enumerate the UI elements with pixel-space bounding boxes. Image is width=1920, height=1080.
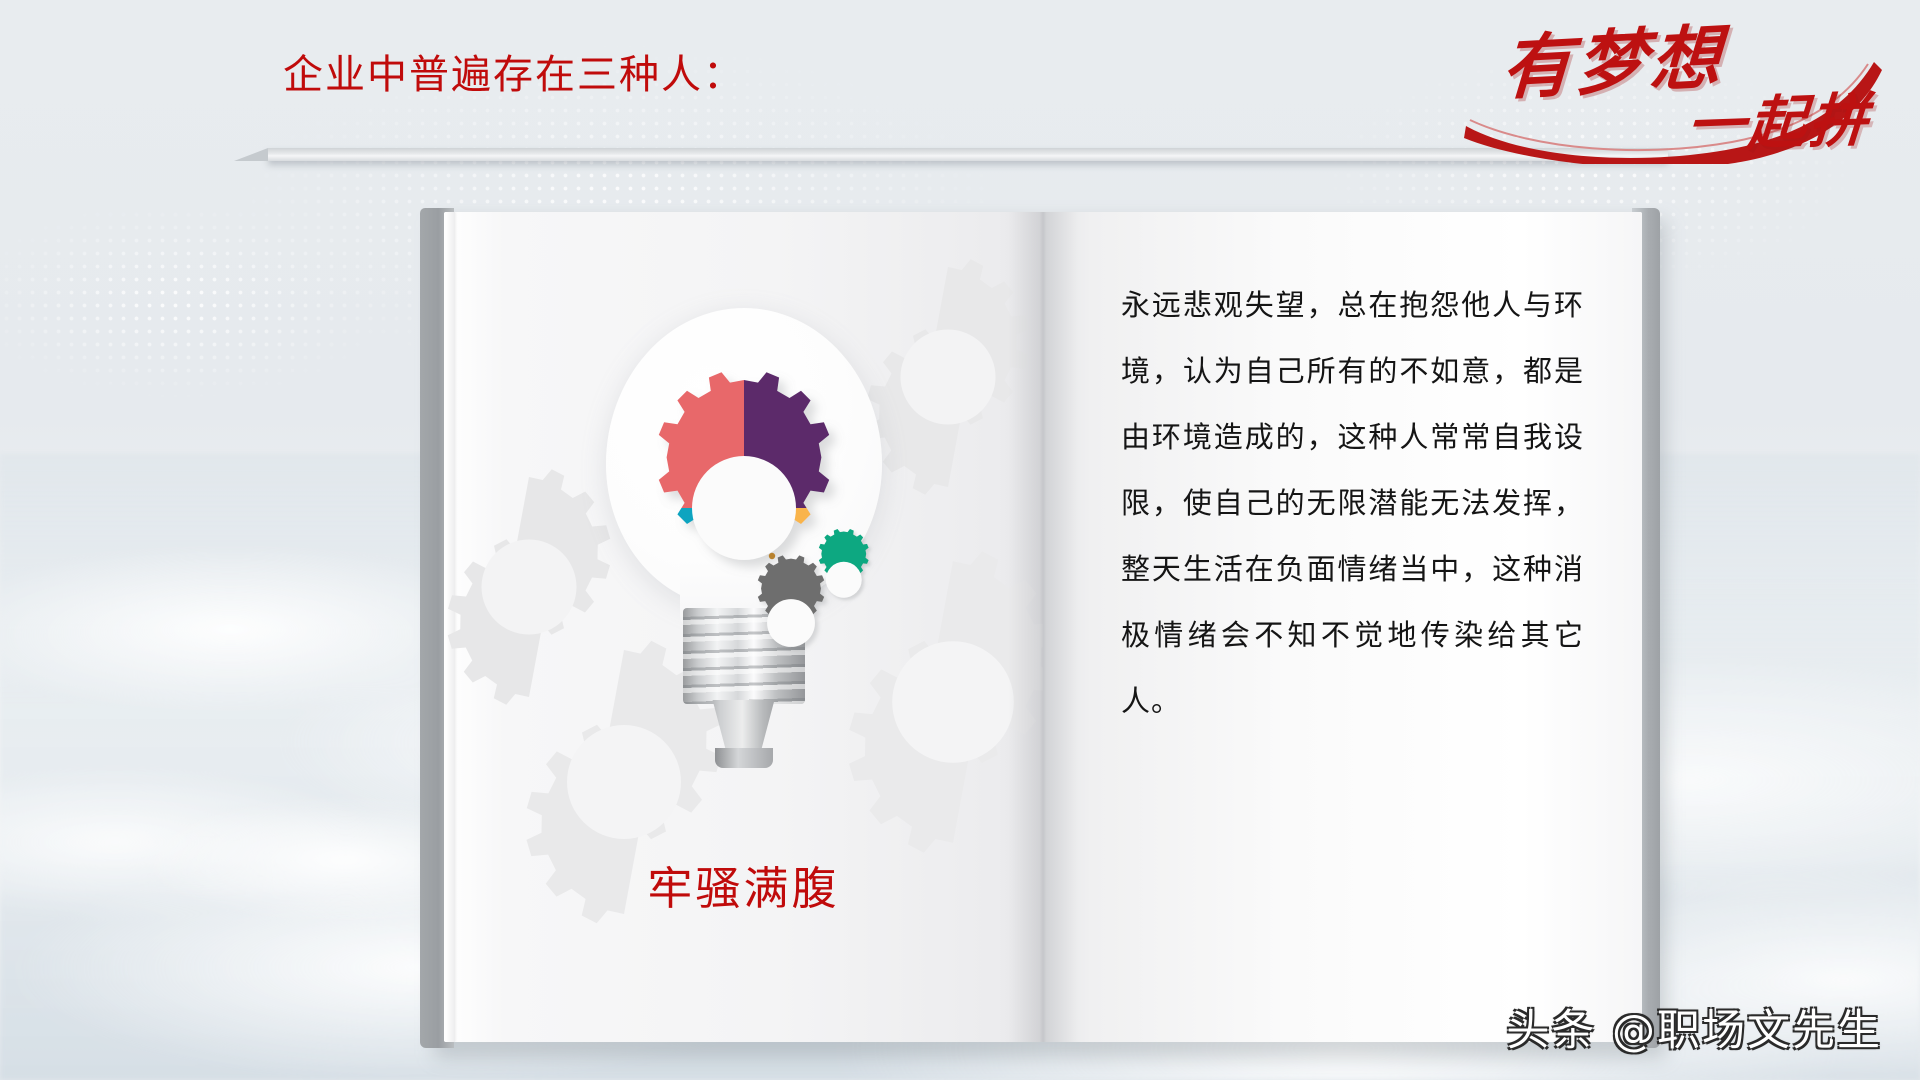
book-pages: 牢骚满腹 永远悲观失望，总在抱怨他人与环境，认为自己所有的不如意，都是由环境造成… (444, 212, 1642, 1042)
brand-logo-line2: 一起拼 (1685, 91, 1873, 155)
book-spine-shade (1008, 212, 1078, 1042)
gear-cluster-icon (594, 358, 894, 658)
bulb-contact-foot (715, 748, 773, 768)
brand-logo: 有梦想 一起拼 (1464, 6, 1884, 186)
book-page-right: 永远悲观失望，总在抱怨他人与环境，认为自己所有的不如意，都是由环境造成的，这种人… (1043, 212, 1642, 1042)
watermark: 头条 @职场文先生 (1506, 996, 1882, 1058)
book-page-left: 牢骚满腹 (444, 212, 1043, 1042)
lightbulb-with-gears-icon (584, 308, 904, 738)
left-page-caption: 牢骚满腹 (444, 852, 1043, 917)
page-title: 企业中普遍存在三种人： (283, 55, 745, 95)
slide-canvas: 企业中普遍存在三种人： 有梦想 一起拼 (0, 0, 1920, 1080)
right-page-paragraph: 永远悲观失望，总在抱怨他人与环境，认为自己所有的不如意，都是由环境造成的，这种人… (1121, 272, 1584, 734)
title-underline-bar (268, 148, 1668, 161)
open-book: 牢骚满腹 永远悲观失望，总在抱怨他人与环境，认为自己所有的不如意，都是由环境造成… (420, 208, 1660, 1048)
